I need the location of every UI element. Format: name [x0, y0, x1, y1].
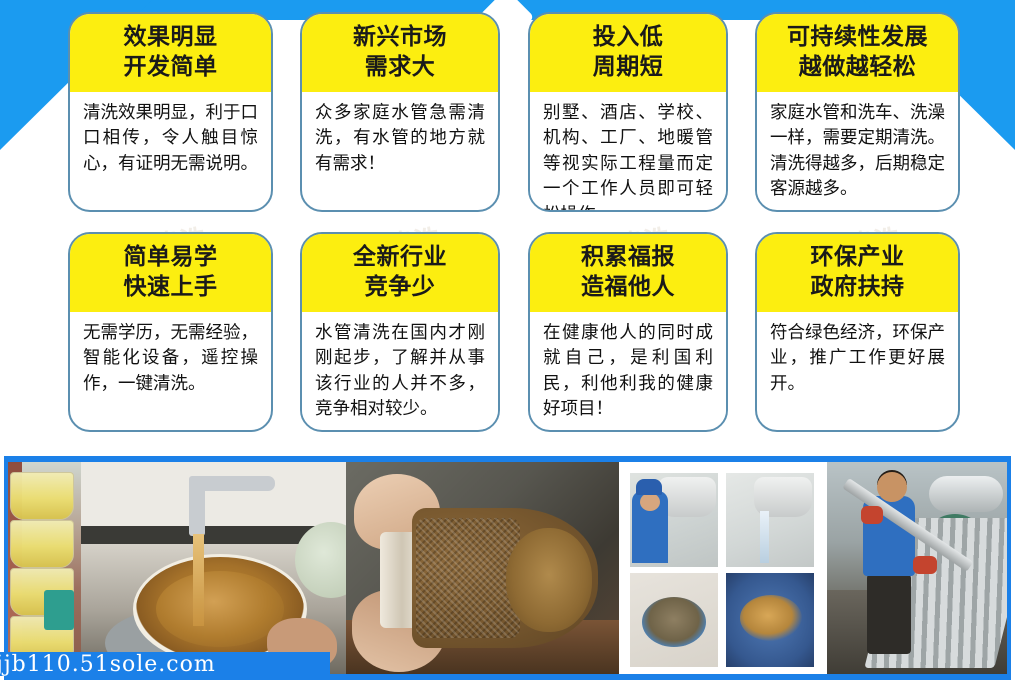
worker-head: [877, 472, 907, 502]
card-body-text: 清洗效果明显，利于口口相传，令人触目惊心，有证明无需说明。: [83, 101, 258, 178]
feature-card-4[interactable]: 可持续性发展 越做越轻松 家庭水管和洗车、洗澡一样，需要定期清洗。清洗得越多，后…: [755, 12, 960, 212]
collage-cell-worker-heater: [629, 472, 719, 568]
card-body-8: 符合绿色经济，环保产业，推广工作更好展开。: [757, 312, 958, 404]
card-title-line1: 新兴市场: [306, 22, 494, 52]
photo-strip: [4, 456, 1011, 680]
feature-card-2[interactable]: 新兴市场 需求大 众多家庭水管急需清洗，有水管的地方就有需求！: [300, 12, 500, 212]
photo-3-scene: [346, 462, 619, 674]
card-title-line1: 简单易学: [74, 242, 267, 272]
card-title-line1: 效果明显: [74, 22, 267, 52]
worker-glove: [861, 506, 883, 524]
photo-4-scene: [619, 462, 827, 674]
card-header-1: 效果明显 开发简单: [70, 14, 271, 92]
card-body-1: 清洗效果明显，利于口口相传，令人触目惊心，有证明无需说明。: [70, 92, 271, 184]
card-title-line2: 快速上手: [74, 272, 267, 302]
feature-card-5[interactable]: 简单易学 快速上手 无需学历，无需经验，智能化设备，遥控操作，一键清洗。: [68, 232, 273, 432]
card-header-7: 积累福报 造福他人: [530, 234, 726, 312]
card-body-3: 别墅、酒店、学校、机构、工厂、地暖管等视实际工程量而定一个工作人员即可轻松操作。: [530, 92, 726, 212]
collage-cell-sediment-basin: [629, 572, 719, 668]
card-body-4: 家庭水管和洗车、洗澡一样，需要定期清洗。清洗得越多，后期稳定客源越多。: [757, 92, 958, 209]
collage-cell-rust-deposits: [725, 572, 815, 668]
solar-tank-icon: [929, 476, 1003, 512]
card-body-text: 水管清洗在国内才刚刚起步，了解并从事该行业的人并不多，竞争相对较少。: [315, 321, 485, 423]
cup-icon: [10, 520, 74, 568]
card-title-line1: 环保产业: [761, 242, 954, 272]
card-header-8: 环保产业 政府扶持: [757, 234, 958, 312]
card-body-2: 众多家庭水管急需清洗，有水管的地方就有需求！: [302, 92, 498, 184]
card-body-text: 无需学历，无需经验，智能化设备，遥控操作，一键清洗。: [83, 321, 258, 398]
basin-icon: [642, 597, 706, 647]
card-header-3: 投入低 周期短: [530, 14, 726, 92]
card-header-4: 可持续性发展 越做越轻松: [757, 14, 958, 92]
card-title-line2: 造福他人: [534, 272, 722, 302]
feature-card-3[interactable]: 投入低 周期短 别墅、酒店、学校、机构、工厂、地暖管等视实际工程量而定一个工作人…: [528, 12, 728, 212]
worker-face: [640, 493, 660, 511]
card-title-line1: 投入低: [534, 22, 722, 52]
card-body-7: 在健康他人的同时成就自己，是利国利民，利他利我的健康好项目！: [530, 312, 726, 429]
card-title-line2: 政府扶持: [761, 272, 954, 302]
water-stream-icon: [760, 511, 769, 563]
photo-3-filter-mesh: [416, 518, 520, 638]
photo-dirty-water-bowl: [81, 462, 346, 674]
card-body-text: 符合绿色经济，环保产业，推广工作更好展开。: [770, 321, 945, 398]
card-title-line1: 可持续性发展: [761, 22, 954, 52]
feature-card-8[interactable]: 环保产业 政府扶持 符合绿色经济，环保产业，推广工作更好展开。: [755, 232, 960, 432]
card-title-line2: 开发简单: [74, 52, 267, 82]
photo-2-wall: [81, 462, 346, 534]
card-title-line2: 竞争少: [306, 272, 494, 302]
photo-2-dirty-water: [156, 571, 284, 647]
card-body-text: 家庭水管和洗车、洗澡一样，需要定期清洗。清洗得越多，后期稳定客源越多。: [770, 101, 945, 203]
card-header-5: 简单易学 快速上手: [70, 234, 271, 312]
collage-cell-water-draining: [725, 472, 815, 568]
feature-card-1[interactable]: 效果明显 开发简单 清洗效果明显，利于口口相传，令人触目惊心，有证明无需说明。: [68, 12, 273, 212]
card-body-text: 在健康他人的同时成就自己，是利国利民，利他利我的健康好项目！: [543, 321, 713, 423]
cup-icon: [10, 472, 74, 520]
faucet-spout-icon: [189, 476, 205, 536]
photo-5-scene: [827, 462, 1007, 674]
card-body-text: 别墅、酒店、学校、机构、工厂、地暖管等视实际工程量而定一个工作人员即可轻松操作。: [543, 101, 713, 212]
card-title-line2: 周期短: [534, 52, 722, 82]
photo-3-sludge: [506, 528, 592, 632]
worker-legs: [867, 574, 911, 654]
card-body-5: 无需学历，无需经验，智能化设备，遥控操作，一键清洗。: [70, 312, 271, 404]
photo-1-teal-object: [44, 590, 74, 630]
card-body-6: 水管清洗在国内才刚刚起步，了解并从事该行业的人并不多，竞争相对较少。: [302, 312, 498, 429]
card-header-2: 新兴市场 需求大: [302, 14, 498, 92]
photo-2-water-stream: [193, 534, 204, 626]
card-title-line1: 积累福报: [534, 242, 722, 272]
photo-solar-heater-cleaning: [827, 462, 1007, 674]
photo-1-scene: [8, 462, 81, 674]
feature-card-grid: 效果明显 开发简单 清洗效果明显，利于口口相传，令人触目惊心，有证明无需说明。 …: [0, 0, 1015, 450]
photo-2-scene: [81, 462, 346, 674]
sediment-deposit: [740, 595, 802, 641]
card-title-line1: 全新行业: [306, 242, 494, 272]
card-title-line2: 需求大: [306, 52, 494, 82]
feature-card-6[interactable]: 全新行业 竞争少 水管清洗在国内才刚刚起步，了解并从事该行业的人并不多，竞争相对…: [300, 232, 500, 432]
worker-glove: [913, 556, 937, 574]
card-body-text: 众多家庭水管急需清洗，有水管的地方就有需求！: [315, 101, 485, 178]
photo-clogged-pipe-filter: [346, 462, 619, 674]
poster-canvas: 水管清洗 水管清洗 水管清洗 水管清洗 水管清洗 水管清洗 水管清洗 水管清洗 …: [0, 0, 1015, 684]
photo-yellow-liquid-cups: [8, 462, 81, 674]
card-title-line2: 越做越轻松: [761, 52, 954, 82]
worker-cap-icon: [636, 479, 662, 495]
card-header-6: 全新行业 竞争少: [302, 234, 498, 312]
photo-collage-water-heater-service: [619, 462, 827, 674]
feature-card-7[interactable]: 积累福报 造福他人 在健康他人的同时成就自己，是利国利民，利他利我的健康好项目！: [528, 232, 728, 432]
watermark-url-text: jjb110.51sole.com: [0, 652, 216, 677]
